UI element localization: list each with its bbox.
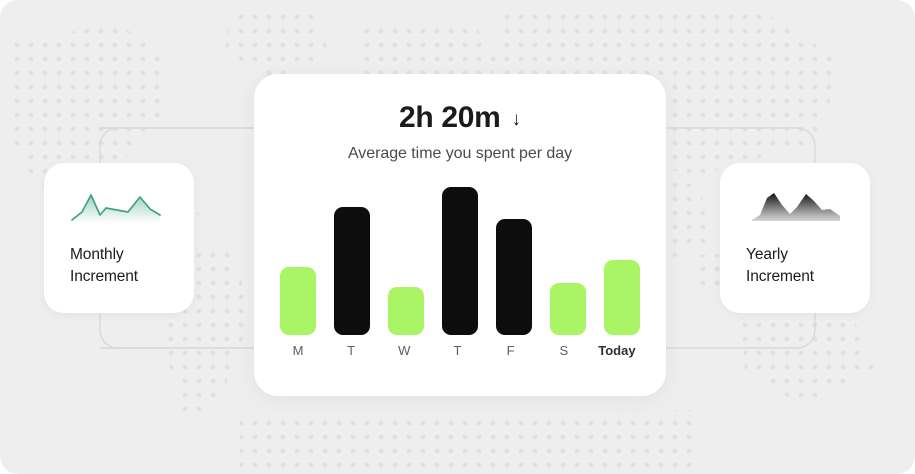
bar-label-w-2: W (386, 343, 422, 358)
bar-label-s-5: S (546, 343, 582, 358)
black-mountain-chart-icon (750, 189, 842, 223)
bar-column[interactable] (604, 180, 640, 335)
green-area-chart-icon (70, 189, 162, 223)
bar-label-m-0: M (280, 343, 316, 358)
bar[interactable] (334, 207, 370, 335)
bar[interactable] (496, 219, 532, 335)
bar-label-today-6: Today (594, 343, 640, 358)
bar-column[interactable] (334, 180, 370, 335)
bar-column[interactable] (496, 180, 532, 335)
average-time-card: 2h 20m ↓ Average time you spent per day … (254, 74, 666, 396)
card-yearly-label: Yearly Increment (746, 244, 870, 288)
bar-label-t-1: T (333, 343, 369, 358)
bar-column[interactable] (388, 180, 424, 335)
bar-column[interactable] (280, 180, 316, 335)
bar[interactable] (388, 287, 424, 335)
bar-label-f-4: F (493, 343, 529, 358)
bar[interactable] (604, 260, 640, 335)
card-monthly-increment[interactable]: Monthly Increment (44, 163, 194, 313)
average-time-caption: Average time you spent per day (254, 145, 666, 163)
stat-row: 2h 20m ↓ (254, 101, 666, 135)
bar-series (280, 180, 640, 335)
bar-label-t-3: T (439, 343, 475, 358)
card-monthly-label: Monthly Increment (70, 244, 194, 288)
weekly-bar-chart: MTWTFSToday (280, 180, 640, 370)
app-background: Monthly Increment Yearly Increment 2h 20… (0, 0, 915, 474)
bar-column[interactable] (442, 180, 478, 335)
bar[interactable] (550, 283, 586, 335)
bar-axis-labels: MTWTFSToday (280, 343, 640, 358)
bar[interactable] (280, 267, 316, 335)
average-time-value: 2h 20m (399, 101, 501, 135)
card-yearly-increment[interactable]: Yearly Increment (720, 163, 870, 313)
bar[interactable] (442, 187, 478, 335)
trend-down-arrow-icon: ↓ (512, 110, 522, 129)
bar-column[interactable] (550, 180, 586, 335)
